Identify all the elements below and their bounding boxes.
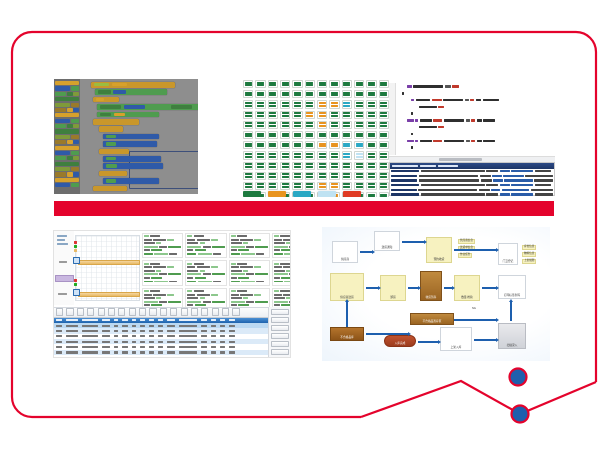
table-cell: [140, 330, 145, 332]
location-tile[interactable]: [268, 162, 278, 170]
location-tile[interactable]: [317, 80, 327, 88]
location-tile[interactable]: [366, 121, 376, 129]
table-cell: [56, 325, 62, 327]
location-tile[interactable]: [243, 80, 253, 88]
location-tile[interactable]: [354, 182, 364, 190]
gantt-node[interactable]: [73, 289, 80, 296]
palette-chip: [71, 183, 79, 187]
location-tile[interactable]: [268, 80, 278, 88]
location-tile[interactable]: [305, 100, 315, 108]
location-tile[interactable]: [329, 182, 339, 190]
toolbar-button[interactable]: [77, 308, 84, 316]
console-log-token: [391, 184, 419, 186]
location-tile[interactable]: [366, 192, 376, 197]
location-tile[interactable]: [292, 80, 302, 88]
toolbar-button[interactable]: [212, 308, 219, 316]
palette-block[interactable]: [55, 156, 79, 160]
table-header-cell[interactable]: [114, 319, 118, 321]
table-toolbar[interactable]: [54, 307, 290, 318]
location-tile[interactable]: [317, 131, 327, 139]
toolbar-button[interactable]: [66, 308, 73, 316]
location-tile[interactable]: [268, 131, 278, 139]
location-tile[interactable]: [280, 131, 290, 139]
info-card[interactable]: [272, 260, 291, 285]
block-socket[interactable]: [124, 105, 145, 108]
location-tile[interactable]: [329, 172, 339, 180]
location-tile[interactable]: [268, 111, 278, 119]
flow-node-inspect[interactable]: 数量 检验: [454, 275, 480, 301]
gantt-node[interactable]: [73, 257, 80, 264]
location-tile[interactable]: [243, 141, 253, 149]
location-tile[interactable]: [280, 182, 290, 190]
side-action-button[interactable]: [271, 317, 289, 323]
location-tile[interactable]: [243, 162, 253, 170]
location-tile[interactable]: [305, 131, 315, 139]
palette-block[interactable]: [55, 167, 79, 171]
location-tile[interactable]: [243, 172, 253, 180]
palette-block[interactable]: [55, 81, 79, 85]
block-socket[interactable]: [98, 90, 111, 93]
flow-node-receive-desk[interactable]: 预约收货: [426, 237, 452, 263]
location-tile[interactable]: [366, 141, 376, 149]
flow-node-label-print[interactable]: 打印标签条码: [498, 275, 526, 299]
table-row[interactable]: [54, 355, 290, 358]
flow-tag: 作业任务: [458, 253, 472, 258]
table-header-cell[interactable]: [132, 319, 136, 321]
location-tile[interactable]: [280, 90, 290, 98]
location-tile[interactable]: [305, 80, 315, 88]
side-action-button[interactable]: [271, 349, 289, 355]
location-tile[interactable]: [292, 182, 302, 190]
location-tile[interactable]: [268, 121, 278, 129]
block-socket[interactable]: [119, 179, 129, 182]
table-header-cell[interactable]: [158, 319, 163, 321]
location-tile[interactable]: [329, 80, 339, 88]
toolbar-button[interactable]: [170, 308, 177, 316]
palette-block[interactable]: [55, 113, 79, 117]
console-log-row[interactable]: [391, 174, 553, 177]
gantt-bar[interactable]: [78, 292, 140, 297]
gantt-resource-chip[interactable]: [55, 275, 74, 282]
console-log-rows[interactable]: [390, 169, 554, 196]
table-header-cell[interactable]: [66, 319, 78, 321]
toolbar-button[interactable]: [118, 308, 125, 316]
location-tile[interactable]: [342, 151, 352, 159]
block-socket[interactable]: [119, 164, 130, 167]
table-header-cell[interactable]: [122, 319, 128, 321]
code-block[interactable]: [93, 186, 127, 192]
location-tile[interactable]: [305, 172, 315, 180]
location-tile[interactable]: [317, 141, 327, 149]
code-block[interactable]: [97, 112, 159, 118]
info-card[interactable]: [272, 233, 291, 258]
location-tile[interactable]: [329, 141, 339, 149]
palette-chip: [55, 156, 66, 160]
flow-node-forklift[interactable]: 卸货: [380, 275, 406, 301]
location-tile[interactable]: [268, 182, 278, 190]
palette-block[interactable]: [55, 162, 79, 166]
location-tile[interactable]: [255, 80, 265, 88]
toolbar-button[interactable]: [108, 308, 115, 316]
code-lines[interactable]: [397, 85, 553, 153]
location-tile[interactable]: [243, 182, 253, 190]
palette-block[interactable]: [55, 108, 79, 112]
location-tile[interactable]: [243, 111, 253, 119]
blocks-canvas[interactable]: [81, 79, 198, 194]
block-socket[interactable]: [114, 113, 125, 116]
toolbar-button[interactable]: [201, 308, 208, 316]
toolbar-button[interactable]: [129, 308, 136, 316]
block-socket[interactable]: [100, 105, 121, 108]
block-socket[interactable]: [106, 164, 117, 167]
location-tile[interactable]: [255, 162, 265, 170]
table-header-cell[interactable]: [167, 319, 175, 321]
flow-node-reject-area[interactable]: 不合格品暂存区: [410, 313, 454, 325]
toolbar-button[interactable]: [139, 308, 146, 316]
table-header-cell[interactable]: [211, 319, 216, 321]
gantt-grid[interactable]: [75, 235, 140, 301]
table-cell: [66, 335, 78, 337]
code-block[interactable]: [99, 171, 127, 177]
location-tile[interactable]: [329, 121, 339, 129]
location-tile[interactable]: [317, 162, 327, 170]
screenshot-location-grid[interactable]: [243, 80, 389, 197]
location-tile[interactable]: [255, 121, 265, 129]
location-tile[interactable]: [268, 100, 278, 108]
table-header-cell[interactable]: [229, 319, 235, 321]
location-tile[interactable]: [280, 100, 290, 108]
flow-node-reject-store[interactable]: 不合格品库: [330, 327, 364, 341]
side-action-button[interactable]: [271, 325, 289, 331]
palette-chip: [71, 103, 79, 107]
location-tile[interactable]: [342, 111, 352, 119]
flow-node-scan[interactable]: 扫描录入: [498, 323, 526, 349]
flow-node-unload[interactable]: 供应商送货: [330, 273, 364, 301]
location-tile[interactable]: [305, 90, 315, 98]
location-tile[interactable]: [379, 100, 389, 108]
location-tile[interactable]: [317, 90, 327, 98]
console-log-row[interactable]: [391, 170, 553, 173]
palette-block[interactable]: [55, 140, 79, 144]
table-side-buttons[interactable]: [268, 307, 290, 357]
location-tile[interactable]: [317, 172, 327, 180]
location-tile[interactable]: [243, 121, 253, 129]
location-tile[interactable]: [317, 182, 327, 190]
location-tile[interactable]: [342, 90, 352, 98]
location-tile[interactable]: [255, 131, 265, 139]
toolbar-button[interactable]: [149, 308, 156, 316]
location-tile[interactable]: [280, 80, 290, 88]
location-tile[interactable]: [379, 192, 389, 197]
palette-block[interactable]: [55, 129, 79, 133]
location-tile[interactable]: [342, 182, 352, 190]
code-block[interactable]: [93, 119, 139, 125]
table-header-cell[interactable]: [179, 319, 197, 321]
table-header-cell[interactable]: [201, 319, 207, 321]
location-tile[interactable]: [354, 90, 364, 98]
location-tile[interactable]: [329, 90, 339, 98]
location-tile[interactable]: [329, 162, 339, 170]
screenshot-blocks-editor[interactable]: [54, 79, 198, 194]
location-tile[interactable]: [354, 172, 364, 180]
location-tile[interactable]: [366, 80, 376, 88]
location-tile[interactable]: [292, 162, 302, 170]
code-token: [415, 119, 418, 121]
table-header-cell[interactable]: [149, 319, 154, 321]
flow-arrow-head: [345, 299, 349, 302]
location-tile[interactable]: [305, 111, 315, 119]
location-tile[interactable]: [366, 111, 376, 119]
location-tile[interactable]: [354, 111, 364, 119]
info-card[interactable]: [229, 233, 270, 258]
code-block[interactable]: [103, 156, 161, 162]
location-tile[interactable]: [305, 141, 315, 149]
toolbar-button[interactable]: [191, 308, 198, 316]
side-action-button[interactable]: [271, 341, 289, 347]
palette-block[interactable]: [55, 124, 79, 128]
flow-node-supplier[interactable]: 供应商: [332, 241, 358, 263]
location-grid-rows[interactable]: [243, 80, 389, 197]
code-block[interactable]: [103, 163, 163, 169]
location-tile[interactable]: [366, 100, 376, 108]
block-socket[interactable]: [113, 90, 126, 93]
block-socket[interactable]: [106, 157, 116, 160]
location-tile[interactable]: [329, 111, 339, 119]
location-tile[interactable]: [342, 172, 352, 180]
location-tile[interactable]: [354, 151, 364, 159]
scheduling-data-table[interactable]: [54, 307, 290, 357]
location-tile[interactable]: [255, 90, 265, 98]
location-tile[interactable]: [243, 90, 253, 98]
location-tile[interactable]: [292, 90, 302, 98]
block-socket[interactable]: [96, 98, 104, 101]
location-tile[interactable]: [292, 111, 302, 119]
location-tile[interactable]: [379, 131, 389, 139]
info-card[interactable]: [229, 260, 270, 285]
location-tile[interactable]: [342, 121, 352, 129]
code-block[interactable]: [97, 104, 198, 110]
code-block[interactable]: [99, 126, 123, 132]
info-card[interactable]: [142, 260, 183, 285]
location-tile[interactable]: [379, 162, 389, 170]
info-card[interactable]: [185, 260, 226, 285]
location-tile[interactable]: [329, 151, 339, 159]
screenshot-code-editor[interactable]: [389, 83, 555, 196]
table-header-cell[interactable]: [56, 319, 62, 321]
location-tile[interactable]: [255, 182, 265, 190]
location-tile[interactable]: [268, 141, 278, 149]
location-tile[interactable]: [354, 121, 364, 129]
console-log-row[interactable]: [391, 188, 553, 191]
console-log-row[interactable]: [391, 184, 553, 187]
gantt-bar[interactable]: [78, 260, 140, 265]
location-tile[interactable]: [280, 162, 290, 170]
block-socket[interactable]: [106, 135, 116, 138]
flow-node-putaway[interactable]: 上架入库: [440, 327, 472, 351]
code-block[interactable]: [103, 141, 157, 147]
location-tile[interactable]: [379, 182, 389, 190]
location-tile[interactable]: [243, 100, 253, 108]
location-tile[interactable]: [305, 182, 315, 190]
flow-arrow: [408, 287, 418, 289]
location-tile[interactable]: [280, 121, 290, 129]
location-tile[interactable]: [317, 121, 327, 129]
table-header-cell[interactable]: [82, 319, 98, 321]
flow-node-complete[interactable]: 入库完成: [384, 335, 416, 347]
location-tile[interactable]: [255, 100, 265, 108]
block-socket[interactable]: [94, 83, 109, 86]
tile-status-bar: [306, 176, 313, 178]
code-block[interactable]: [91, 82, 175, 88]
scheduling-info-cards[interactable]: [142, 233, 288, 303]
console-log-row[interactable]: [391, 193, 553, 196]
table-header-cell[interactable]: [140, 319, 145, 321]
block-socket[interactable]: [147, 105, 168, 108]
location-tile[interactable]: [342, 141, 352, 149]
screenshot-scheduling-board[interactable]: [53, 230, 291, 358]
toolbar-button[interactable]: [160, 308, 167, 316]
location-tile[interactable]: [354, 100, 364, 108]
location-tile[interactable]: [292, 172, 302, 180]
location-tile[interactable]: [354, 141, 364, 149]
location-tile[interactable]: [379, 121, 389, 129]
location-tile[interactable]: [255, 172, 265, 180]
location-tile[interactable]: [354, 80, 364, 88]
scrollbar-thumb[interactable]: [439, 158, 482, 160]
console-log-row[interactable]: [391, 179, 553, 182]
location-tile[interactable]: [379, 90, 389, 98]
block-socket[interactable]: [106, 142, 116, 145]
scheduling-gantt-area[interactable]: [54, 231, 290, 305]
location-tile[interactable]: [342, 162, 352, 170]
table-header-cell[interactable]: [220, 319, 225, 321]
location-tile[interactable]: [255, 141, 265, 149]
palette-block[interactable]: [55, 119, 79, 123]
code-block[interactable]: [93, 97, 119, 103]
palette-block[interactable]: [55, 97, 79, 101]
side-action-button[interactable]: [271, 333, 289, 339]
location-tile[interactable]: [268, 90, 278, 98]
toolbar-button[interactable]: [222, 308, 229, 316]
location-tile[interactable]: [255, 111, 265, 119]
log-console[interactable]: [389, 162, 555, 196]
location-tile[interactable]: [379, 172, 389, 180]
toolbar-button[interactable]: [87, 308, 94, 316]
location-tile[interactable]: [268, 151, 278, 159]
palette-block[interactable]: [55, 172, 79, 176]
block-socket[interactable]: [119, 157, 129, 160]
block-socket[interactable]: [112, 83, 127, 86]
location-tile[interactable]: [342, 100, 352, 108]
info-card[interactable]: [142, 233, 183, 258]
location-tile[interactable]: [366, 90, 376, 98]
location-tile[interactable]: [292, 131, 302, 139]
block-socket[interactable]: [106, 179, 116, 182]
table-header-cell[interactable]: [102, 319, 110, 321]
location-tile[interactable]: [268, 172, 278, 180]
location-tile[interactable]: [379, 111, 389, 119]
location-tile[interactable]: [379, 141, 389, 149]
location-tile[interactable]: [366, 151, 376, 159]
screenshot-logistics-flow[interactable]: 供应商送货通知预约收货门卫登记供应商送货卸货收货暂存数量 检验打印标签条码不合格…: [322, 227, 550, 361]
location-tile[interactable]: [366, 162, 376, 170]
toolbar-button[interactable]: [181, 308, 188, 316]
location-tile[interactable]: [354, 162, 364, 170]
location-tile[interactable]: [342, 131, 352, 139]
block-socket[interactable]: [118, 142, 128, 145]
table-cell: [149, 335, 154, 337]
flow-node-gate-in[interactable]: 门卫登记: [498, 243, 518, 265]
location-tile[interactable]: [366, 182, 376, 190]
location-tile[interactable]: [292, 121, 302, 129]
palette-block[interactable]: [55, 146, 79, 150]
location-tile[interactable]: [317, 100, 327, 108]
toolbar-button[interactable]: [98, 308, 105, 316]
palette-block[interactable]: [55, 178, 79, 182]
toolbar-button[interactable]: [232, 308, 239, 316]
tile-status-bar: [368, 94, 375, 96]
flow-node-delivery[interactable]: 送货通知: [374, 231, 400, 251]
palette-block[interactable]: [55, 103, 79, 107]
palette-block[interactable]: [55, 92, 79, 96]
palette-block[interactable]: [55, 183, 79, 187]
block-socket[interactable]: [119, 135, 129, 138]
code-block[interactable]: [99, 149, 129, 155]
location-tile[interactable]: [329, 131, 339, 139]
location-tile[interactable]: [243, 151, 253, 159]
block-socket[interactable]: [100, 113, 111, 116]
code-token: [420, 119, 432, 121]
code-block[interactable]: [95, 89, 167, 95]
location-tile[interactable]: [243, 131, 253, 139]
code-block[interactable]: [103, 178, 159, 184]
location-tile[interactable]: [305, 151, 315, 159]
location-tile[interactable]: [292, 100, 302, 108]
location-tile[interactable]: [329, 100, 339, 108]
location-tile[interactable]: [354, 131, 364, 139]
code-block[interactable]: [103, 134, 159, 140]
toolbar-button[interactable]: [56, 308, 63, 316]
location-tile[interactable]: [317, 111, 327, 119]
location-tile[interactable]: [305, 121, 315, 129]
location-tile[interactable]: [280, 151, 290, 159]
gantt-sidebar[interactable]: [54, 231, 74, 305]
location-tile[interactable]: [280, 111, 290, 119]
location-tile[interactable]: [292, 141, 302, 149]
location-tile[interactable]: [379, 151, 389, 159]
location-tile[interactable]: [255, 151, 265, 159]
location-tile[interactable]: [379, 80, 389, 88]
side-action-button[interactable]: [271, 309, 289, 315]
location-tile[interactable]: [342, 80, 352, 88]
location-tile[interactable]: [280, 141, 290, 149]
location-tile[interactable]: [366, 131, 376, 139]
location-tile[interactable]: [292, 151, 302, 159]
blocks-palette[interactable]: [54, 79, 80, 194]
flow-node-stage[interactable]: 收货暂存: [420, 271, 442, 301]
location-tile[interactable]: [280, 172, 290, 180]
location-tile[interactable]: [366, 172, 376, 180]
location-tile[interactable]: [317, 151, 327, 159]
location-tile[interactable]: [305, 162, 315, 170]
info-card[interactable]: [185, 233, 226, 258]
flow-arrow: [454, 319, 496, 321]
table-body[interactable]: [54, 323, 290, 358]
palette-block[interactable]: [55, 151, 79, 155]
palette-block[interactable]: [55, 86, 79, 90]
palette-block[interactable]: [55, 135, 79, 139]
block-socket[interactable]: [171, 105, 192, 108]
